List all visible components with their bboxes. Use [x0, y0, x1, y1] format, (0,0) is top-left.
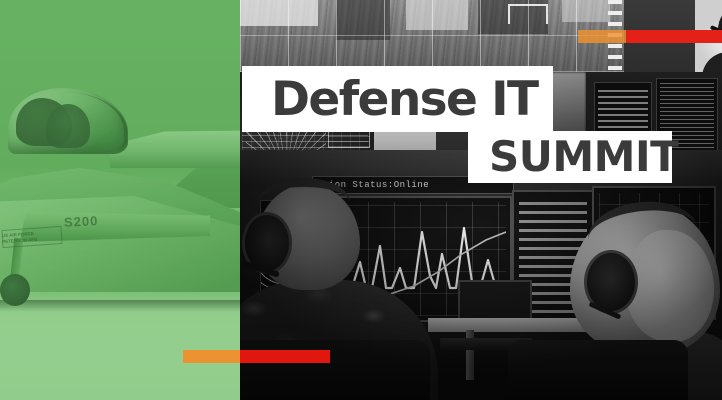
accent-bar-top-orange-segment — [578, 30, 626, 43]
landing-gear-wheel — [0, 274, 30, 306]
accent-bar-bottom-orange-segment — [183, 350, 240, 363]
title-line-2: SUMMIT — [489, 136, 678, 178]
accent-bar-bottom-left — [183, 350, 330, 363]
title-line-1: Defense IT — [271, 76, 537, 123]
right-grayscale-photo-panel: ction Status:Online — [240, 0, 722, 400]
accent-bar-bottom-red-segment — [240, 350, 330, 363]
accent-bar-top-red-segment — [626, 30, 722, 43]
left-green-photo-panel: US AIR FORCE PETERSON AFB S200 — [0, 0, 240, 400]
targeting-bracket-icon — [508, 4, 548, 24]
jet-tail-number: S200 — [64, 213, 99, 230]
chair-left — [240, 340, 430, 400]
defense-it-summit-banner: US AIR FORCE PETERSON AFB S200 — [0, 0, 722, 400]
chair-right — [508, 340, 688, 400]
title-block-secondary: SUMMIT — [468, 131, 672, 183]
tarmac-shadow — [0, 300, 240, 312]
title-block-primary: Defense IT — [242, 66, 553, 132]
accent-bar-top-right — [578, 30, 722, 43]
